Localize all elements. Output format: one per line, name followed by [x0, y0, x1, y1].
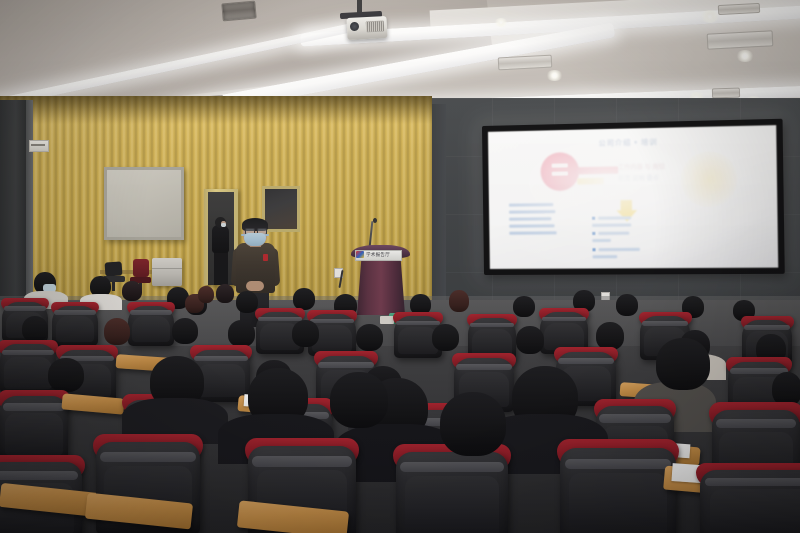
seat-accent-band: [642, 321, 688, 326]
audience-head: [432, 324, 459, 351]
audience-head: [228, 320, 255, 347]
seat-accent-band: [542, 317, 586, 322]
doorway-person-legs: [214, 250, 228, 285]
seat-cushion: [4, 357, 51, 389]
wall-placard-text-line: [31, 144, 45, 146]
slide-left-text-line: [509, 210, 555, 213]
seat-accent-band: [396, 321, 440, 326]
seat-accent-band: [4, 306, 46, 310]
seat-accent-band: [310, 319, 354, 324]
projection-screen-surface: 公司介绍 • 培训 工作内容 与 岗位 职责 说明 要点: [488, 125, 778, 269]
office-chair-black-post: [112, 282, 115, 291]
slide-bullet-marker: [592, 217, 595, 220]
seat-accent-band: [565, 459, 672, 470]
slide-circle-label-line2: [552, 171, 568, 175]
slide-bullet-text: [592, 239, 610, 242]
auditorium-seat[interactable]: [700, 470, 800, 533]
lectern-plaque-text: 学术报告厅: [366, 251, 399, 258]
auditorium-seat[interactable]: [560, 448, 676, 533]
slide-pink-bar: [577, 167, 618, 175]
presenter-face-mask: [244, 233, 266, 246]
seat-accent-band: [558, 358, 613, 364]
doorway-person-torso: [212, 225, 229, 253]
white-box-object: [380, 316, 394, 324]
seat-cushion: [569, 473, 666, 533]
auditorium-seat[interactable]: [0, 396, 68, 462]
institution-logo-icon: [356, 251, 364, 258]
seat-accent-band: [318, 362, 373, 368]
slide-bullet-marker: [592, 248, 595, 251]
seat-accent-band: [194, 356, 247, 362]
audience-head: [236, 291, 258, 313]
seat-cushion: [5, 413, 62, 455]
downlight-icon: [736, 50, 754, 62]
audience-head: [292, 320, 319, 347]
slide-bullet-text: [598, 216, 631, 219]
presenter-hands: [246, 281, 264, 291]
slide-headline-primary: 工作内容 与 岗位: [618, 161, 680, 171]
slide-bullet-text: [598, 232, 629, 235]
audience-head: [449, 290, 469, 312]
slide-bullet-text: [599, 248, 640, 251]
audience-head: [22, 316, 48, 342]
seat-accent-band: [258, 317, 302, 322]
seat-accent-band: [54, 310, 96, 314]
seat-accent-band: [456, 364, 511, 370]
auditorium-seat[interactable]: [52, 306, 98, 346]
audience-head: [356, 324, 383, 351]
slide-faint-circle-shape: [680, 151, 738, 208]
slide-down-arrow-icon: [616, 200, 637, 223]
downlight-icon: [546, 70, 563, 81]
audience-head: [293, 288, 315, 310]
audience-head: [172, 318, 198, 344]
downlight-icon: [700, 10, 720, 23]
seat-accent-band: [0, 471, 78, 480]
audience-head: [48, 358, 84, 392]
front-cabinet: [152, 258, 182, 286]
slide-bullet-text: [592, 223, 631, 226]
downlight-icon: [494, 18, 508, 27]
seat-accent-band: [100, 452, 196, 462]
seat-cushion: [544, 323, 584, 350]
office-chair-red-back: [133, 259, 149, 277]
projection-screen[interactable]: 公司介绍 • 培训 工作内容 与 岗位 职责 说明 要点: [482, 119, 785, 275]
audience-head: [616, 294, 638, 316]
audience-head: [772, 372, 800, 406]
auditorium-seat[interactable]: [128, 306, 174, 346]
left-dark-column: [0, 100, 26, 315]
seat-accent-band: [716, 419, 797, 428]
audience-head: [216, 284, 234, 303]
slide-left-text-line: [509, 203, 553, 206]
auditorium-seat[interactable]: [0, 344, 56, 394]
audience-head: [122, 281, 142, 301]
presenter-badge: [263, 254, 268, 261]
seat-cushion: [710, 489, 800, 533]
slide-left-text-line: [509, 217, 551, 220]
seat-accent-band: [599, 414, 671, 422]
wall-placard: [29, 140, 49, 152]
seat-cushion: [132, 316, 171, 342]
hvac-vent: [707, 30, 774, 49]
audience-head: [516, 326, 544, 354]
slide-left-text-line: [509, 224, 554, 227]
doorway-person-mask: [221, 223, 226, 227]
audience-head: [656, 338, 710, 390]
hvac-vent: [221, 1, 256, 22]
seat-cushion: [56, 316, 95, 342]
hvac-vent: [712, 88, 740, 99]
seat-accent-band: [252, 456, 351, 466]
bulletin-board: [104, 167, 184, 240]
lecture-hall-photo: 公司介绍 • 培训 工作内容 与 岗位 职责 说明 要点: [0, 0, 800, 533]
audience-head: [330, 372, 388, 428]
seat-accent-band: [400, 462, 503, 472]
seat-accent-band: [744, 325, 790, 330]
audience-head: [198, 286, 214, 303]
seat-accent-band: [2, 350, 54, 356]
seat-cushion: [405, 476, 499, 533]
slide-left-text-line: [509, 231, 556, 234]
front-cabinet-seam: [152, 268, 182, 269]
hvac-vent: [498, 55, 553, 71]
audience-head: [513, 296, 535, 317]
slide-bullet-text: [593, 255, 618, 258]
lectern-body: [357, 253, 405, 315]
audience-head: [104, 318, 130, 345]
slide-yellow-highlight: [577, 178, 604, 185]
slide-title: 公司介绍 • 培训: [566, 136, 690, 149]
auditorium-seat[interactable]: [396, 452, 508, 533]
slide-circle-label-line1: [552, 163, 568, 167]
column-divider: [26, 100, 33, 315]
seat-cushion: [472, 329, 512, 356]
seat-accent-band: [3, 403, 66, 410]
slide-headline-secondary: 职责 说明 要点: [618, 173, 680, 183]
audience-head: [596, 322, 624, 350]
seat-accent-band: [470, 323, 514, 328]
microphone-icon: [373, 218, 377, 223]
audience-head: [440, 392, 506, 456]
projector-vent-grille: [366, 21, 385, 33]
slide-bullet-marker: [592, 232, 595, 235]
office-chair-black-back: [105, 261, 123, 276]
seat-accent-band: [705, 478, 800, 486]
seat-accent-band: [130, 310, 172, 314]
wood-wall-shadow: [0, 96, 432, 124]
